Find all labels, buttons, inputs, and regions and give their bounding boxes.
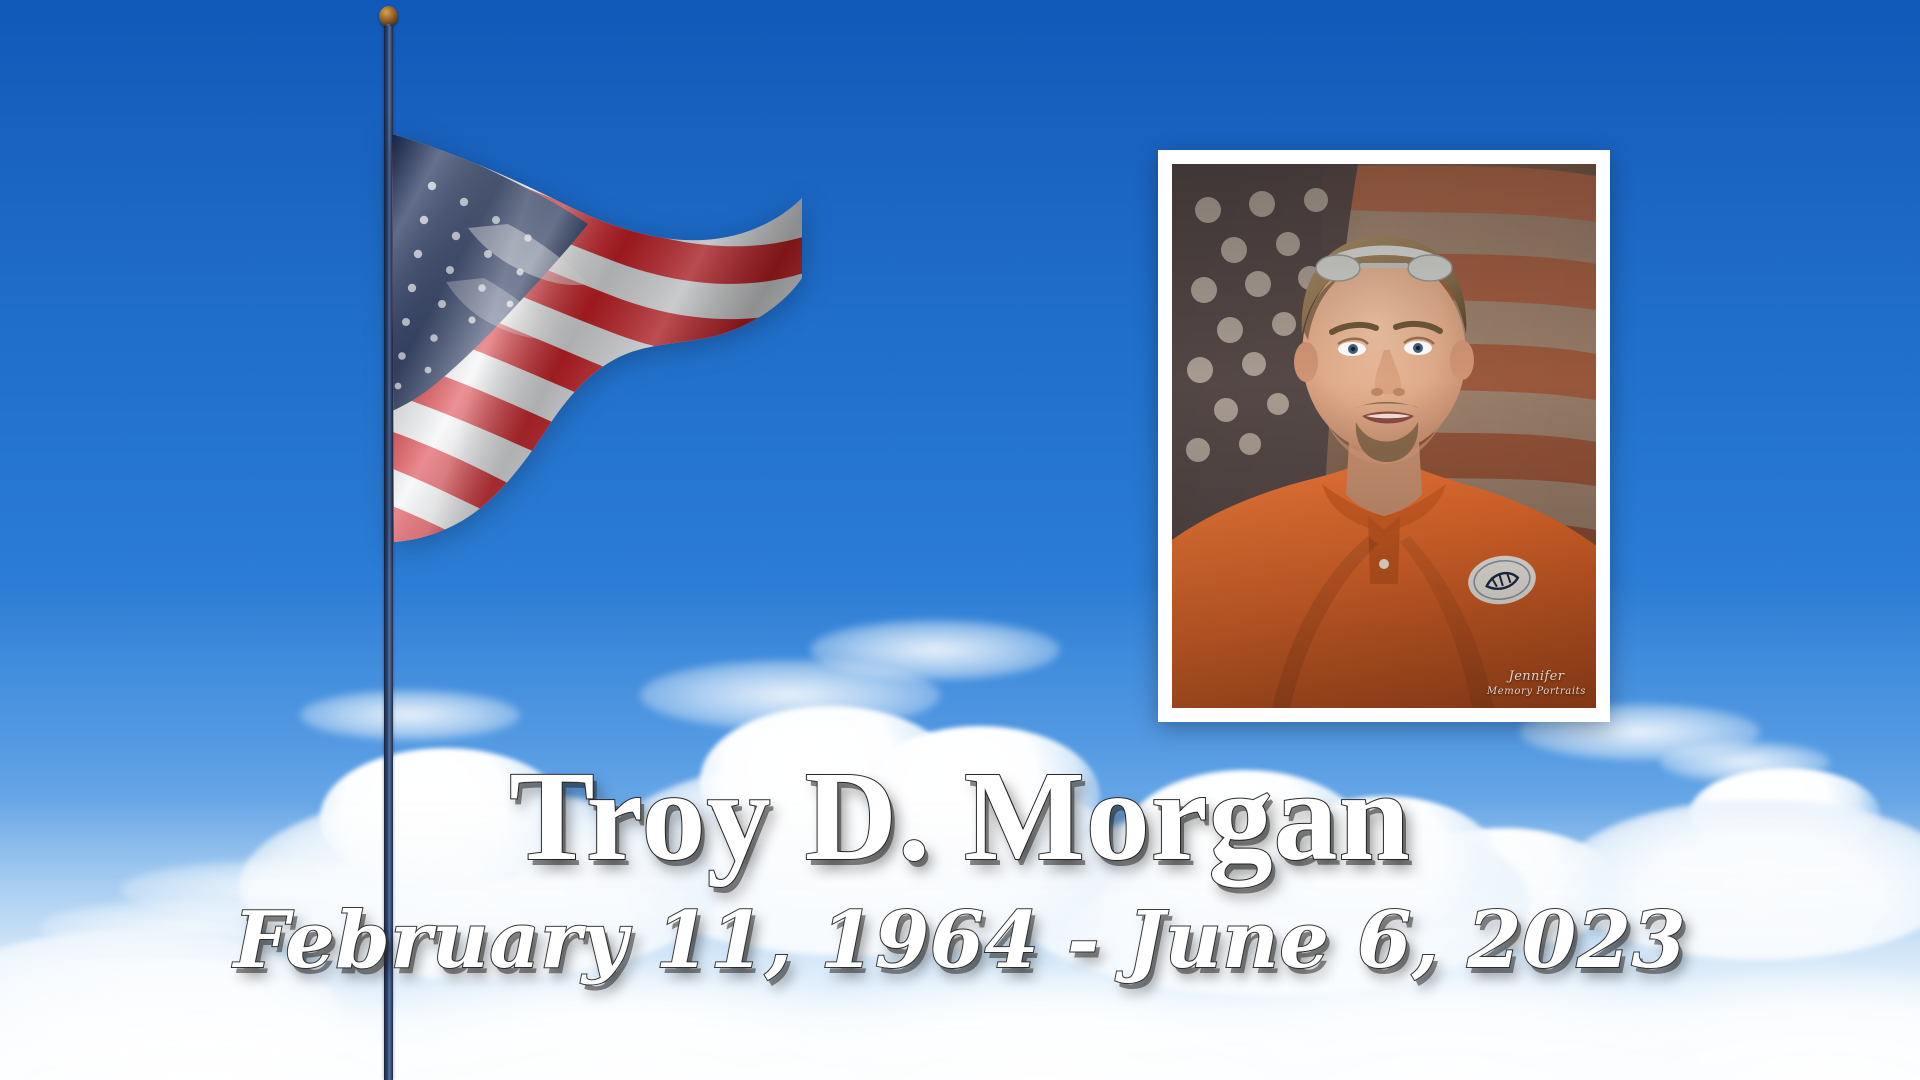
- memorial-dates: February 11, 1964 - June 6, 2023: [0, 902, 1920, 980]
- memorial-tribute-slide: Jennifer Memory Portraits Troy D. Morgan…: [0, 0, 1920, 1080]
- portrait-frame: Jennifer Memory Portraits: [1158, 150, 1610, 722]
- portrait-photo: Jennifer Memory Portraits: [1172, 164, 1596, 708]
- american-flag: [388, 128, 808, 548]
- memorial-name: Troy D. Morgan: [0, 752, 1920, 880]
